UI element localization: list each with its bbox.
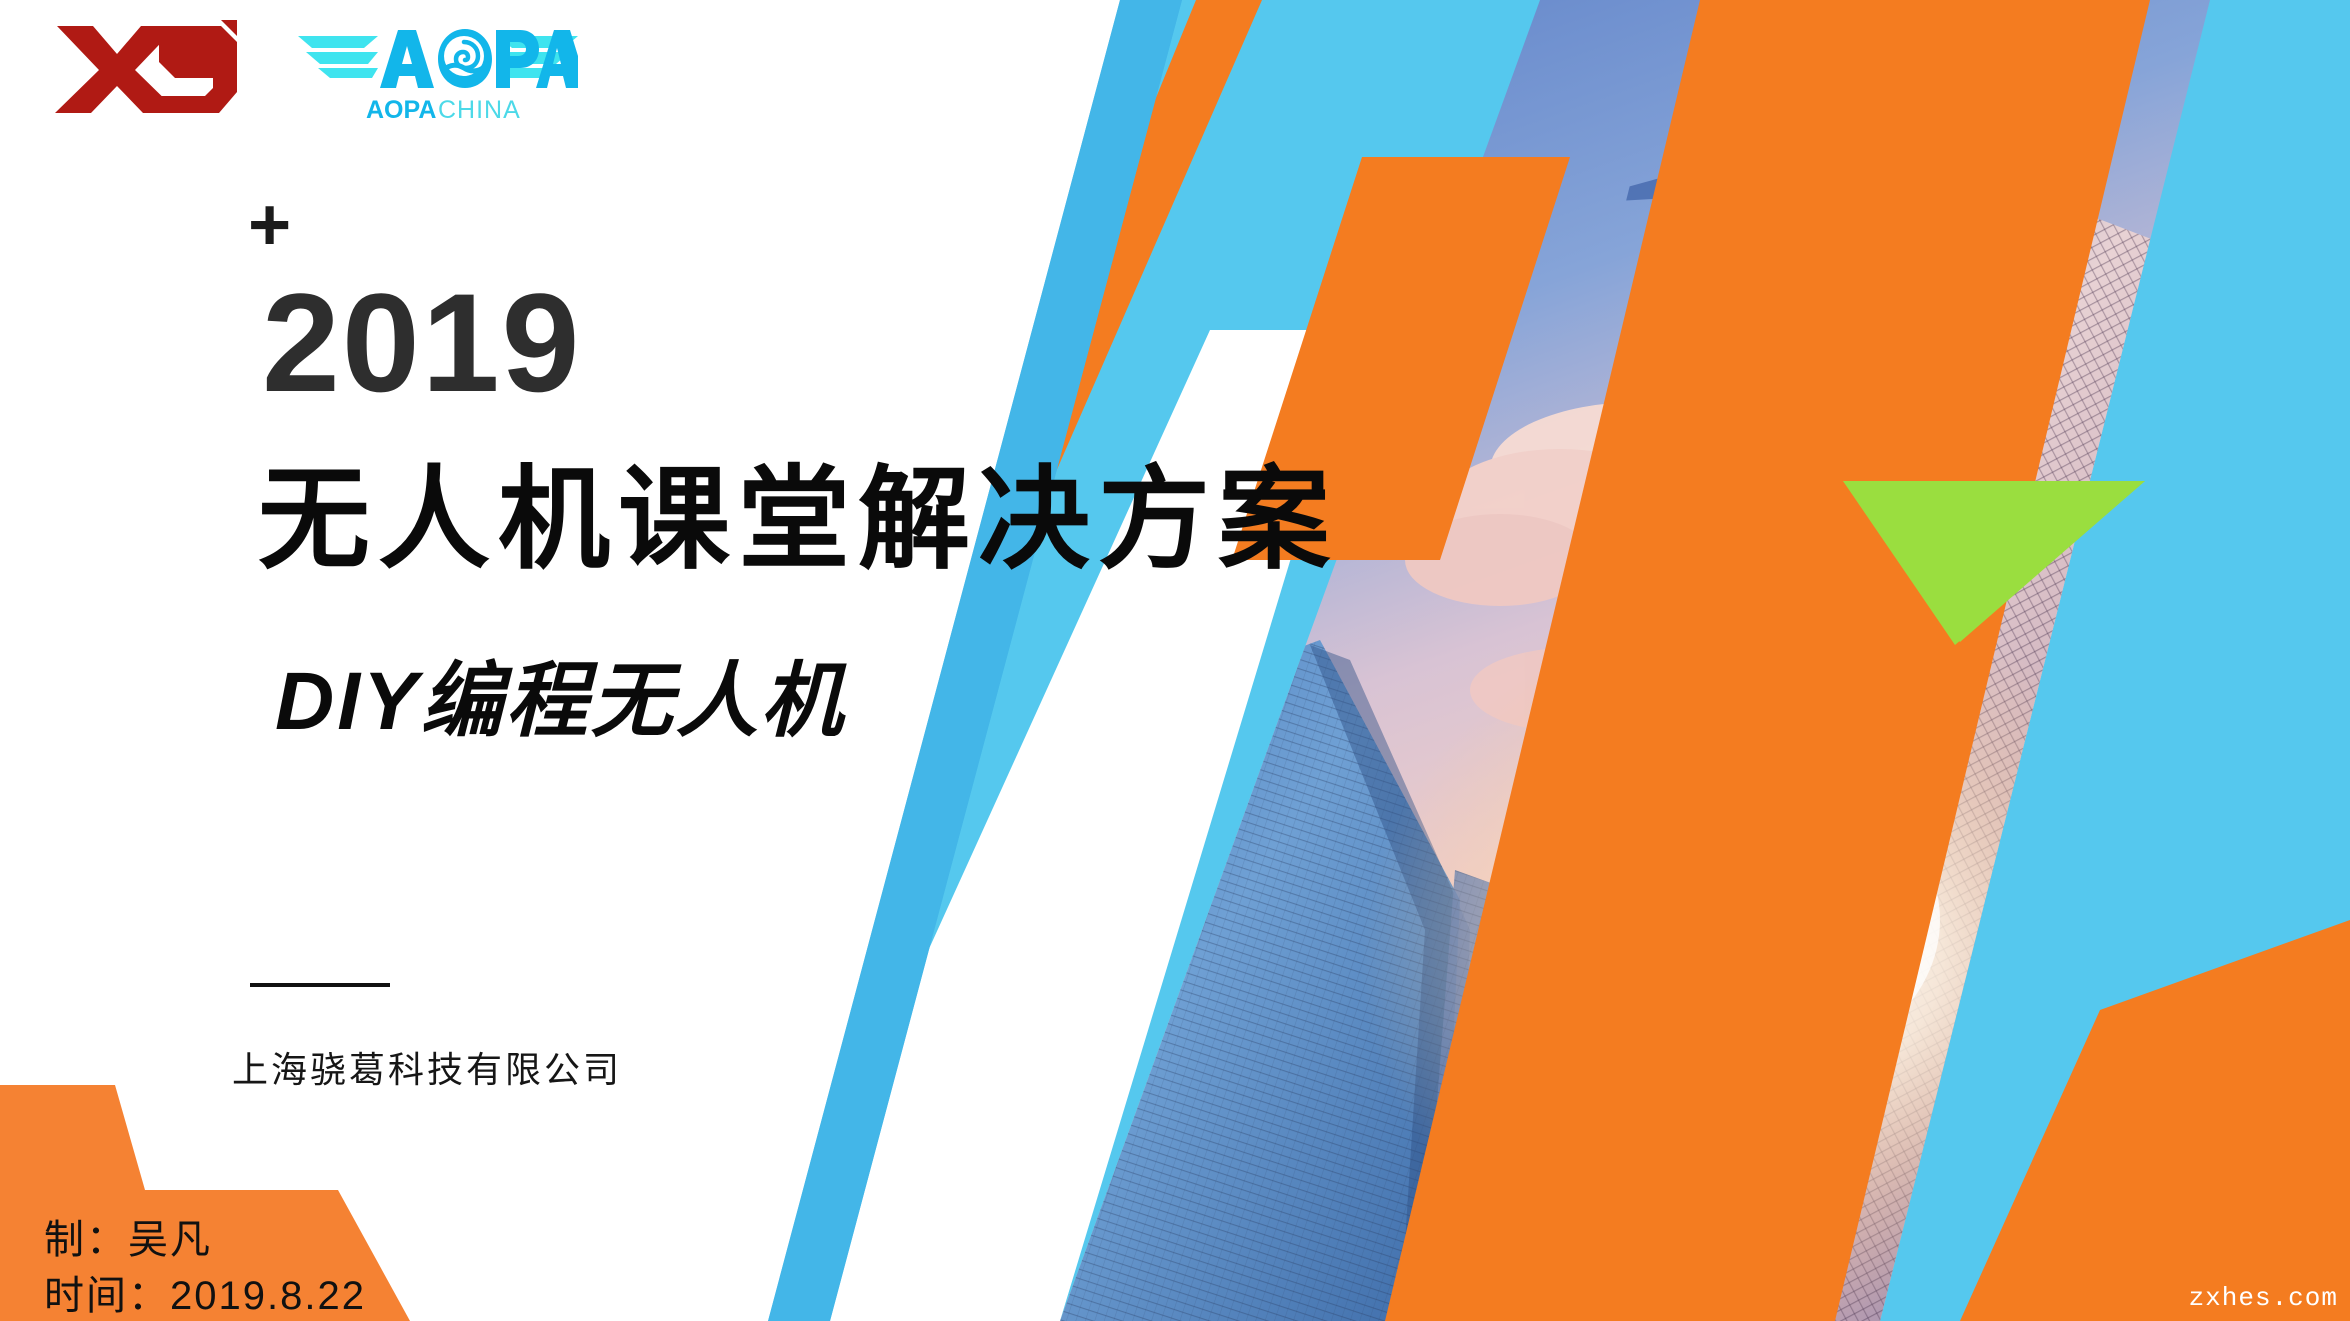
page-title: 无人机课堂解决方案: [258, 460, 1338, 580]
footer-meta: 制：吴凡 时间：2019.8.22: [44, 1212, 366, 1321]
logo-row: AOPA CHINA: [55, 18, 578, 123]
site-watermark: zxhes.com: [2189, 1283, 2338, 1313]
aopa-swirl-icon: [444, 36, 484, 76]
company-name: 上海骁葛科技有限公司: [232, 1048, 622, 1092]
aopa-logo: AOPA CHINA: [298, 18, 578, 123]
presentation-slide: AOPA CHINA + 2019 无人机课堂解决方案 DIY编程无人机 上海骁…: [0, 0, 2350, 1321]
slide-content: AOPA CHINA + 2019 无人机课堂解决方案 DIY编程无人机 上海骁…: [0, 0, 1300, 1321]
footer-author: 制：吴凡: [44, 1212, 366, 1268]
aopa-subtitle-light: CHINA: [438, 96, 521, 123]
subtitle: DIY编程无人机: [275, 655, 846, 749]
year-heading: 2019: [262, 268, 581, 418]
divider-rule: [250, 983, 390, 987]
plus-mark: +: [248, 188, 291, 262]
footer-date: 时间：2019.8.22: [44, 1268, 366, 1321]
aopa-subtitle-bold: AOPA: [366, 96, 436, 123]
xg-logo: [55, 18, 240, 113]
